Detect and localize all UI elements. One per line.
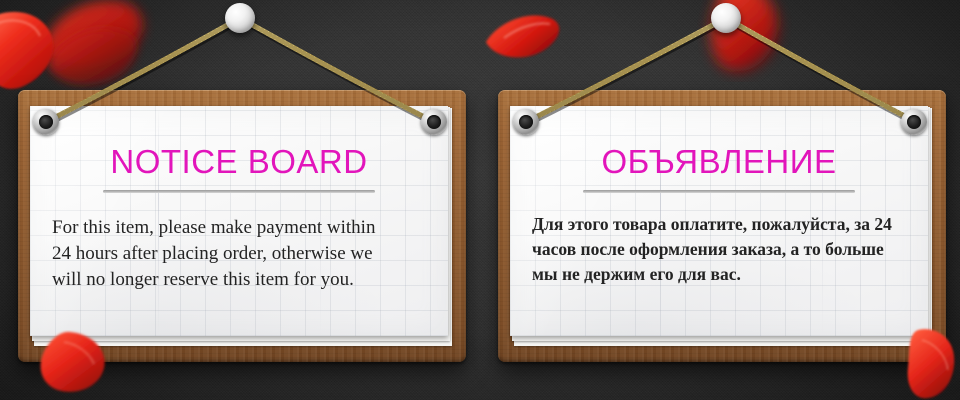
- grommet-top-left-en: [33, 109, 59, 135]
- grommet-top-left-ru: [513, 109, 539, 135]
- body-line-1-ru: Для этого товара оплатите, пожалуйста, з…: [532, 212, 924, 237]
- rose-petal-top-left-blurred: [30, 0, 160, 89]
- rose-petal-top-left-secondary: [44, 18, 154, 98]
- heading-divider-en: [103, 190, 375, 193]
- heading-ru: ОБЪЯВЛЕНИЕ: [510, 143, 928, 181]
- rose-petal-top-left-front: [0, 4, 80, 92]
- body-line-2-en: 24 hours after placing order, otherwise …: [52, 241, 448, 267]
- hanging-knob-right[interactable]: [711, 3, 741, 33]
- notice-board-banner: NOTICE BOARD For this item, please make …: [0, 0, 960, 400]
- heading-en: NOTICE BOARD: [30, 143, 448, 181]
- hanging-knob-left[interactable]: [225, 3, 255, 33]
- body-line-2-ru: часов после оформления заказа, а то боль…: [532, 237, 924, 262]
- rose-petal-top-center: [484, 8, 566, 64]
- grommet-top-right-ru: [901, 109, 927, 135]
- heading-divider-ru: [583, 190, 855, 193]
- grommet-top-right-en: [421, 109, 447, 135]
- rose-petal-top-right-blurred: [690, 0, 800, 82]
- body-line-3-ru: мы не держим его для вас.: [532, 262, 924, 287]
- body-line-3-en: will no longer reserve this item for you…: [52, 267, 448, 293]
- body-line-1-en: For this item, please make payment withi…: [52, 215, 448, 241]
